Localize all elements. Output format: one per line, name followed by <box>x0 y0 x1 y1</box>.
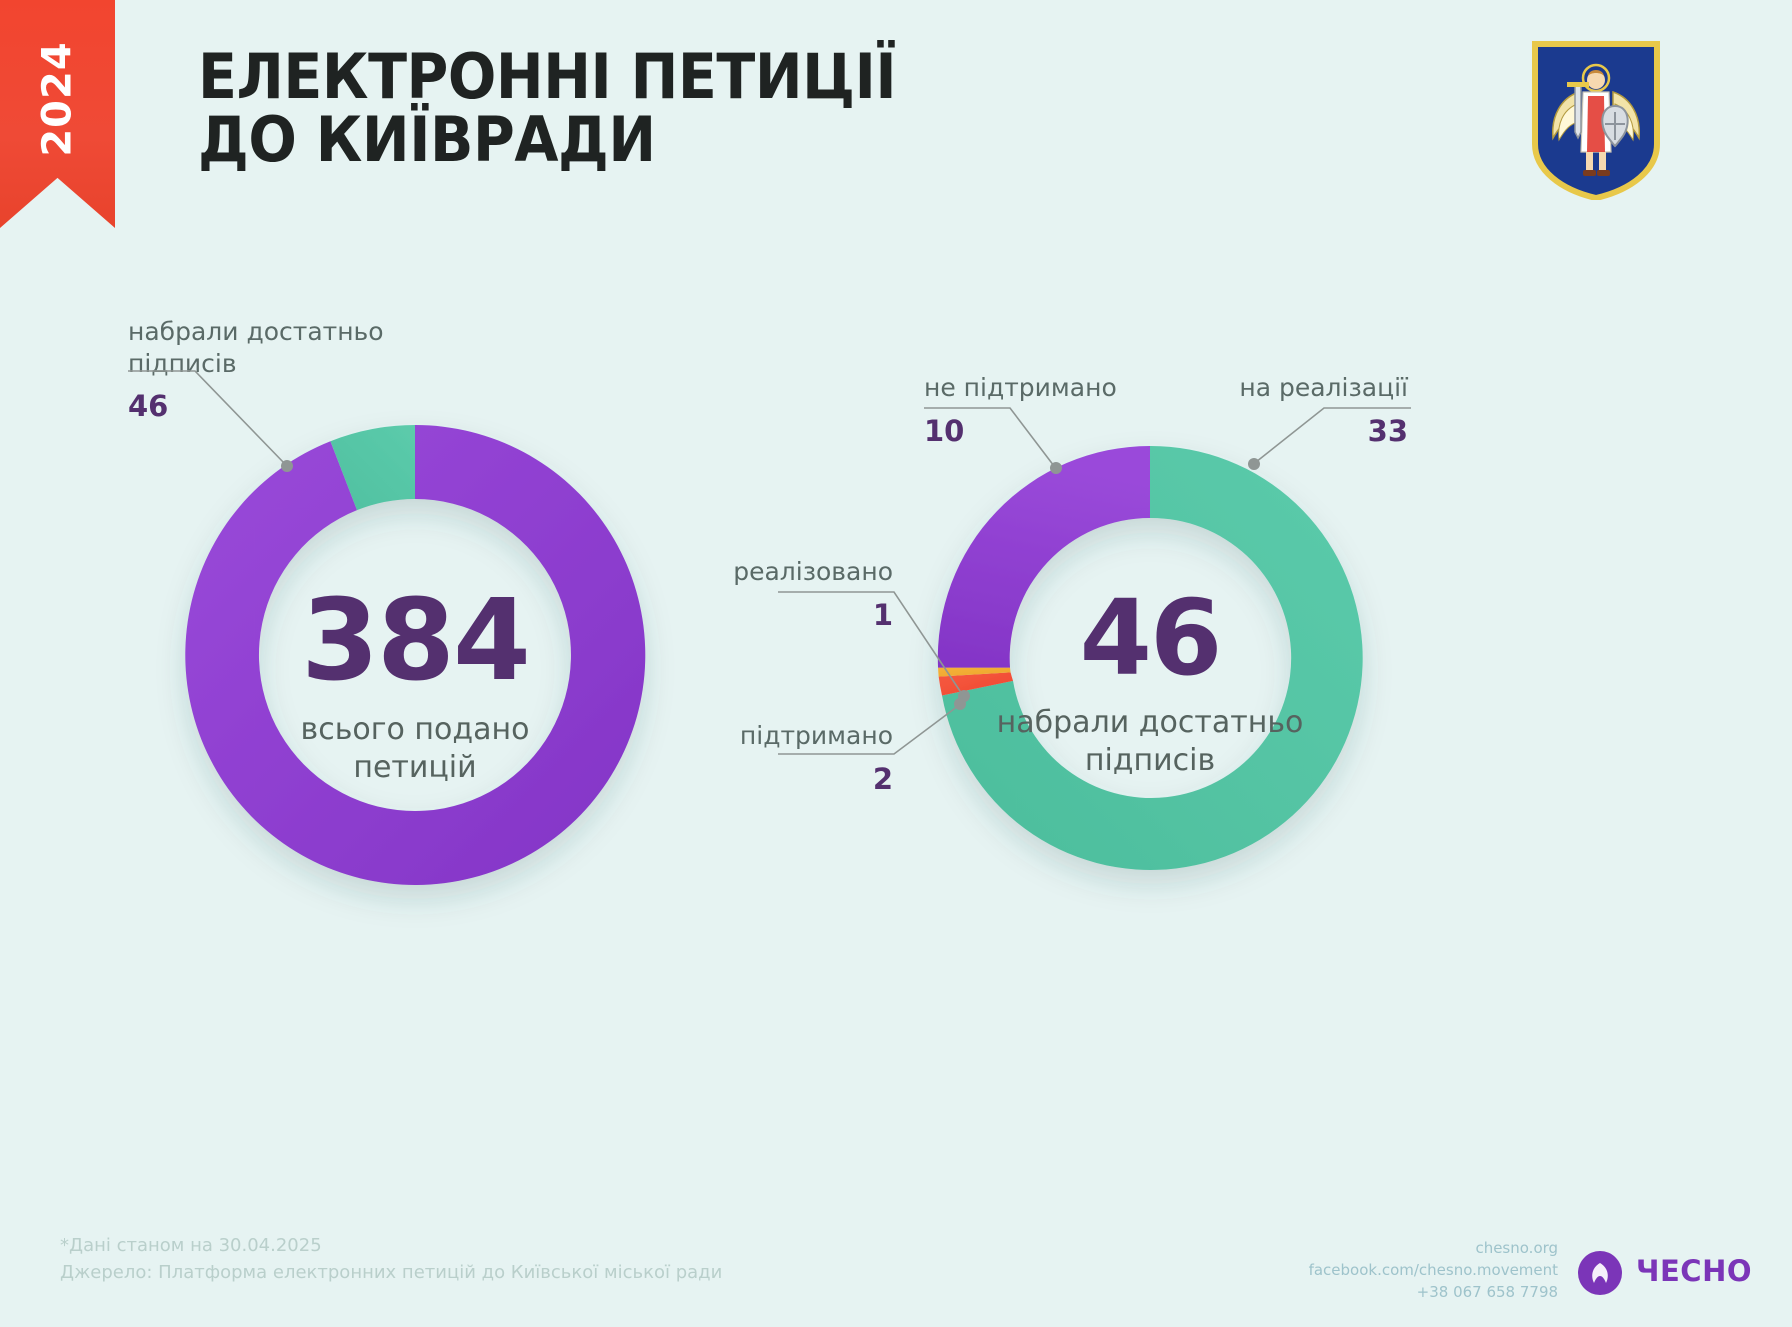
callout-supported-value: 2 <box>660 764 893 796</box>
footnote: *Дані станом на 30.04.2025 Джерело: Плат… <box>60 1232 722 1286</box>
callout-not-supported-value: 10 <box>924 416 1144 448</box>
callout-on-implementation: на реалізації 33 <box>1190 372 1408 447</box>
chesno-wordmark: ЧЕСНО <box>1636 1254 1752 1288</box>
ribbon-year-label: 2024 <box>35 41 81 156</box>
year-ribbon: 2024 <box>0 0 115 228</box>
callout-enough-signatures: набрали достатньо підписів 46 <box>128 316 358 423</box>
callout-enough-signatures-label-1: набрали достатньо <box>128 316 358 348</box>
brand-phone: +38 067 658 7798 <box>1309 1282 1558 1304</box>
callout-implemented-label: реалізовано <box>660 556 893 588</box>
footnote-date: *Дані станом на 30.04.2025 <box>60 1232 722 1259</box>
callout-not-supported: не підтримано 10 <box>924 372 1144 447</box>
callout-supported-label: підтримано <box>660 720 893 752</box>
kyiv-coat-of-arms-icon <box>1531 40 1661 200</box>
page-title: ЕЛЕКТРОННІ ПЕТИЦІЇ ДО КИЇВРАДИ <box>198 45 896 171</box>
chesno-mark-icon <box>1572 1243 1628 1299</box>
callout-implemented: реалізовано 1 <box>660 556 893 631</box>
slice-not-supported <box>938 446 1150 668</box>
callout-supported: підтримано 2 <box>660 720 893 795</box>
callout-enough-signatures-value: 46 <box>128 391 358 423</box>
callout-not-supported-label: не підтримано <box>924 372 1144 404</box>
chart-total-petitions: 384 всього подано петицій <box>145 385 685 925</box>
callout-on-implementation-label: на реалізації <box>1190 372 1408 404</box>
chesno-logo[interactable]: ЧЕСНО <box>1572 1243 1752 1299</box>
slice-other <box>185 425 645 885</box>
brand-contacts: chesno.org facebook.com/chesno.movement … <box>1309 1238 1558 1303</box>
donut-slices <box>938 446 1363 870</box>
page-title-line-2: ДО КИЇВРАДИ <box>198 108 896 171</box>
chart-enough-signatures-breakdown: 46 набрали достатньо підписів <box>900 408 1400 908</box>
callout-enough-signatures-label-2: підписів <box>128 348 358 380</box>
donut-svg-total <box>145 385 685 925</box>
page-title-line-1: ЕЛЕКТРОННІ ПЕТИЦІЇ <box>198 45 896 108</box>
callout-on-implementation-value: 33 <box>1190 416 1408 448</box>
brand-block: chesno.org facebook.com/chesno.movement … <box>1309 1238 1752 1303</box>
brand-site[interactable]: chesno.org <box>1309 1238 1558 1260</box>
brand-facebook[interactable]: facebook.com/chesno.movement <box>1309 1260 1558 1282</box>
callout-implemented-value: 1 <box>660 600 893 632</box>
footnote-source: Джерело: Платформа електронних петицій д… <box>60 1259 722 1286</box>
donut-svg-breakdown <box>900 408 1400 908</box>
